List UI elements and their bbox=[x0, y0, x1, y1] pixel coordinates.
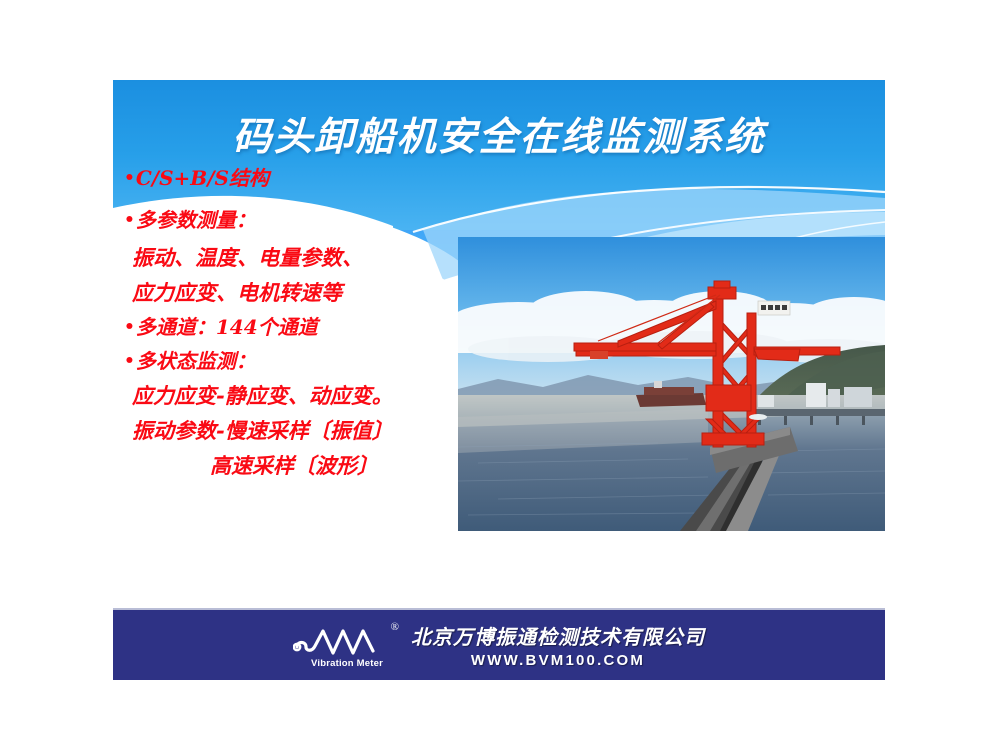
ship-unloader-photo bbox=[458, 237, 885, 531]
page-title: 码头卸船机安全在线监测系统 bbox=[113, 106, 885, 162]
list-item: •多状态监测： bbox=[124, 351, 484, 371]
slide-canvas: 码头卸船机安全在线监测系统 •C/S+B/S结构 •多参数测量： 振动、温度、电… bbox=[0, 0, 1000, 750]
list-item: •多通道：144个通道 bbox=[124, 317, 484, 337]
list-item-label: 多状态监测： bbox=[136, 349, 256, 373]
photo-illustration bbox=[458, 237, 885, 531]
company-name: 北京万博振通检测技术有限公司 bbox=[411, 621, 705, 650]
footer-bar: ® Vibration Meter 北京万博振通检测技术有限公司 WWW.BVM… bbox=[113, 608, 885, 680]
logo-caption: Vibration Meter bbox=[297, 658, 397, 669]
list-item: 高速采样〔波形〕 bbox=[210, 455, 484, 476]
vibration-meter-logo: ® Vibration Meter bbox=[293, 621, 397, 669]
list-item: 应力应变、电机转速等 bbox=[132, 282, 484, 303]
footer-content: ® Vibration Meter 北京万博振通检测技术有限公司 WWW.BVM… bbox=[113, 610, 885, 680]
list-item: 振动、温度、电量参数、 bbox=[132, 247, 484, 268]
list-item-label: C/S+B/S结构 bbox=[136, 166, 269, 190]
bullet-marker: • bbox=[124, 351, 135, 371]
list-item: 应力应变-静应变、动应变。 bbox=[132, 385, 484, 406]
registered-trademark-icon: ® bbox=[391, 621, 399, 633]
list-item-label: 多参数测量： bbox=[136, 208, 256, 232]
bullet-list: •C/S+B/S结构 •多参数测量： 振动、温度、电量参数、 应力应变、电机转速… bbox=[124, 168, 484, 488]
bullet-marker: • bbox=[124, 210, 135, 230]
slide-content-card: 码头卸船机安全在线监测系统 •C/S+B/S结构 •多参数测量： 振动、温度、电… bbox=[113, 80, 885, 533]
waveform-logo-icon bbox=[293, 621, 397, 661]
list-item: •C/S+B/S结构 bbox=[124, 168, 484, 188]
list-item: 振动参数-慢速采样〔振值〕 bbox=[132, 420, 484, 441]
company-info: 北京万博振通检测技术有限公司 WWW.BVM100.COM bbox=[411, 621, 705, 669]
list-item-label: 多通道：144个通道 bbox=[136, 315, 318, 339]
bullet-marker: • bbox=[124, 168, 135, 188]
bullet-marker: • bbox=[124, 317, 135, 337]
company-website: WWW.BVM100.COM bbox=[411, 652, 705, 669]
list-item: •多参数测量： bbox=[124, 210, 484, 230]
